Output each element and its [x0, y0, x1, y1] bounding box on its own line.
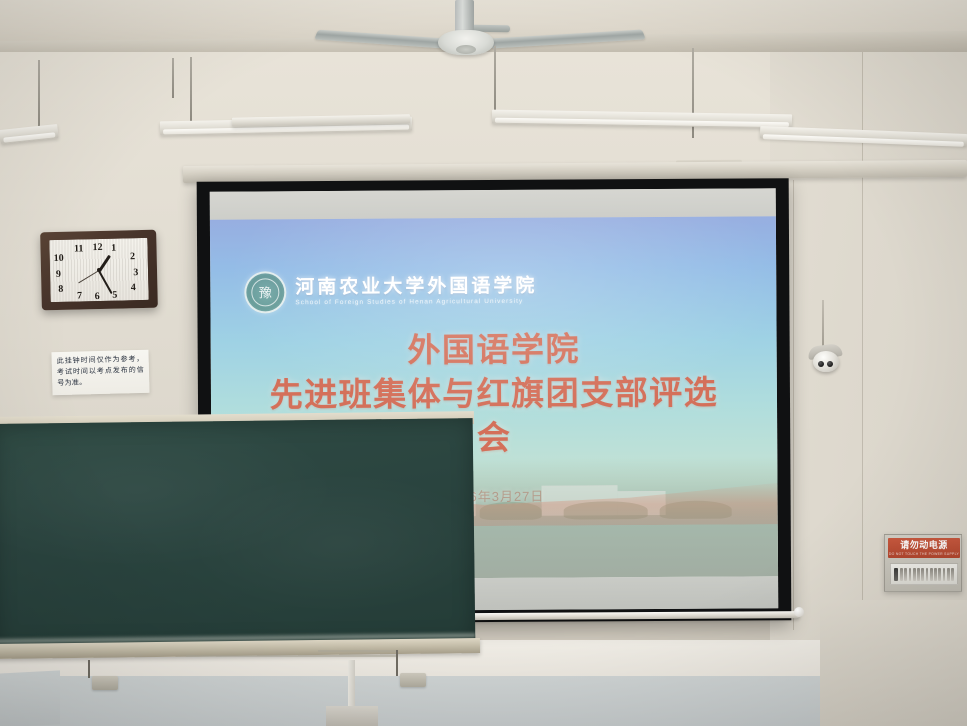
breaker[interactable] — [930, 568, 933, 581]
clock-num-7: 7 — [77, 291, 82, 301]
stand-pole — [348, 660, 355, 708]
breaker[interactable] — [921, 568, 924, 581]
classroom-scene: 豫 河南农业大学外国语学院 School of Foreign Studies … — [0, 0, 967, 726]
clock-num-11: 11 — [74, 244, 84, 254]
breaker[interactable] — [917, 568, 920, 581]
breaker[interactable] — [951, 568, 954, 581]
seal-glyph: 豫 — [246, 286, 284, 299]
screen-pull-knob-right[interactable] — [794, 607, 804, 617]
conduit-2 — [318, 650, 396, 652]
clock-num-5: 5 — [112, 291, 117, 301]
clock-num-1: 1 — [111, 244, 116, 254]
power-warning-cn: 请勿动电源 — [900, 541, 948, 550]
breaker[interactable] — [938, 568, 941, 581]
breaker[interactable] — [934, 568, 937, 581]
breaker[interactable] — [900, 568, 903, 581]
breaker[interactable] — [947, 568, 950, 581]
camera-lens-right — [827, 361, 833, 367]
slide-top-band — [210, 188, 776, 219]
green-chalkboard — [0, 418, 475, 648]
wall-seam-2 — [793, 180, 794, 630]
wire-drop-1 — [88, 660, 90, 678]
wire-drop-2 — [396, 650, 398, 676]
breaker[interactable] — [913, 568, 916, 581]
clock-num-3: 3 — [133, 268, 138, 278]
slide-title-line-2: 先进班集体与红旗团支部评选 — [219, 371, 769, 419]
clock-num-4: 4 — [131, 283, 136, 293]
light-rod-3 — [190, 57, 192, 121]
junction-box-2 — [400, 673, 426, 687]
breaker[interactable] — [926, 568, 929, 581]
clock-num-9: 9 — [56, 270, 61, 280]
clock-num-12: 12 — [92, 243, 102, 253]
camera-lens-left — [818, 361, 824, 367]
light-rod-4 — [494, 46, 496, 114]
fan-motor-hub — [438, 30, 494, 55]
light-rod-2 — [172, 58, 174, 98]
clock-num-10: 10 — [54, 254, 64, 264]
podium — [0, 670, 60, 726]
clock-minute-hand — [98, 271, 112, 295]
clock-second-hand — [78, 270, 99, 283]
wall-clock: 12 1 2 3 4 5 6 7 8 9 10 11 — [40, 230, 158, 311]
breaker[interactable] — [909, 568, 912, 581]
light-rod-1 — [38, 60, 40, 135]
conduit-1 — [186, 655, 396, 657]
clock-num-8: 8 — [58, 285, 63, 295]
power-warning-sign: 请勿动电源 DO NOT TOUCH THE POWER SUPPLY — [888, 538, 960, 558]
breaker[interactable] — [943, 568, 946, 581]
clock-num-2: 2 — [130, 252, 135, 262]
junction-box-1 — [92, 676, 118, 690]
university-seal-icon: 豫 — [244, 271, 286, 313]
camera-dome — [813, 351, 839, 372]
slide-title-line-1: 外国语学院 — [219, 326, 769, 374]
clock-face: 12 1 2 3 4 5 6 7 8 9 10 11 — [49, 238, 148, 302]
clock-num-6: 6 — [95, 292, 100, 302]
slide-org-name-cn: 河南农业大学外国语学院 — [295, 277, 537, 297]
electrical-panel[interactable]: 请勿动电源 DO NOT TOUCH THE POWER SUPPLY — [884, 534, 962, 592]
breaker-main[interactable] — [894, 568, 898, 581]
slide-logo: 豫 河南农业大学外国语学院 School of Foreign Studies … — [244, 270, 537, 314]
clock-center-pin — [97, 268, 101, 272]
breaker-row[interactable] — [890, 563, 958, 585]
exam-notice-sign: 此挂钟时间仅作为参考，考试时间以考点发布的信号为准。 — [51, 350, 149, 396]
camera-wire — [822, 300, 824, 346]
breaker[interactable] — [904, 568, 907, 581]
stand-base — [326, 706, 378, 726]
power-warning-en: DO NOT TOUCH THE POWER SUPPLY — [889, 552, 959, 556]
slide-org-name-en: School of Foreign Studies of Henan Agric… — [295, 299, 537, 307]
right-wall-lower — [820, 600, 967, 726]
exam-notice-text: 此挂钟时间仅作为参考，考试时间以考点发布的信号为准。 — [57, 354, 145, 390]
dome-security-camera — [806, 345, 844, 371]
